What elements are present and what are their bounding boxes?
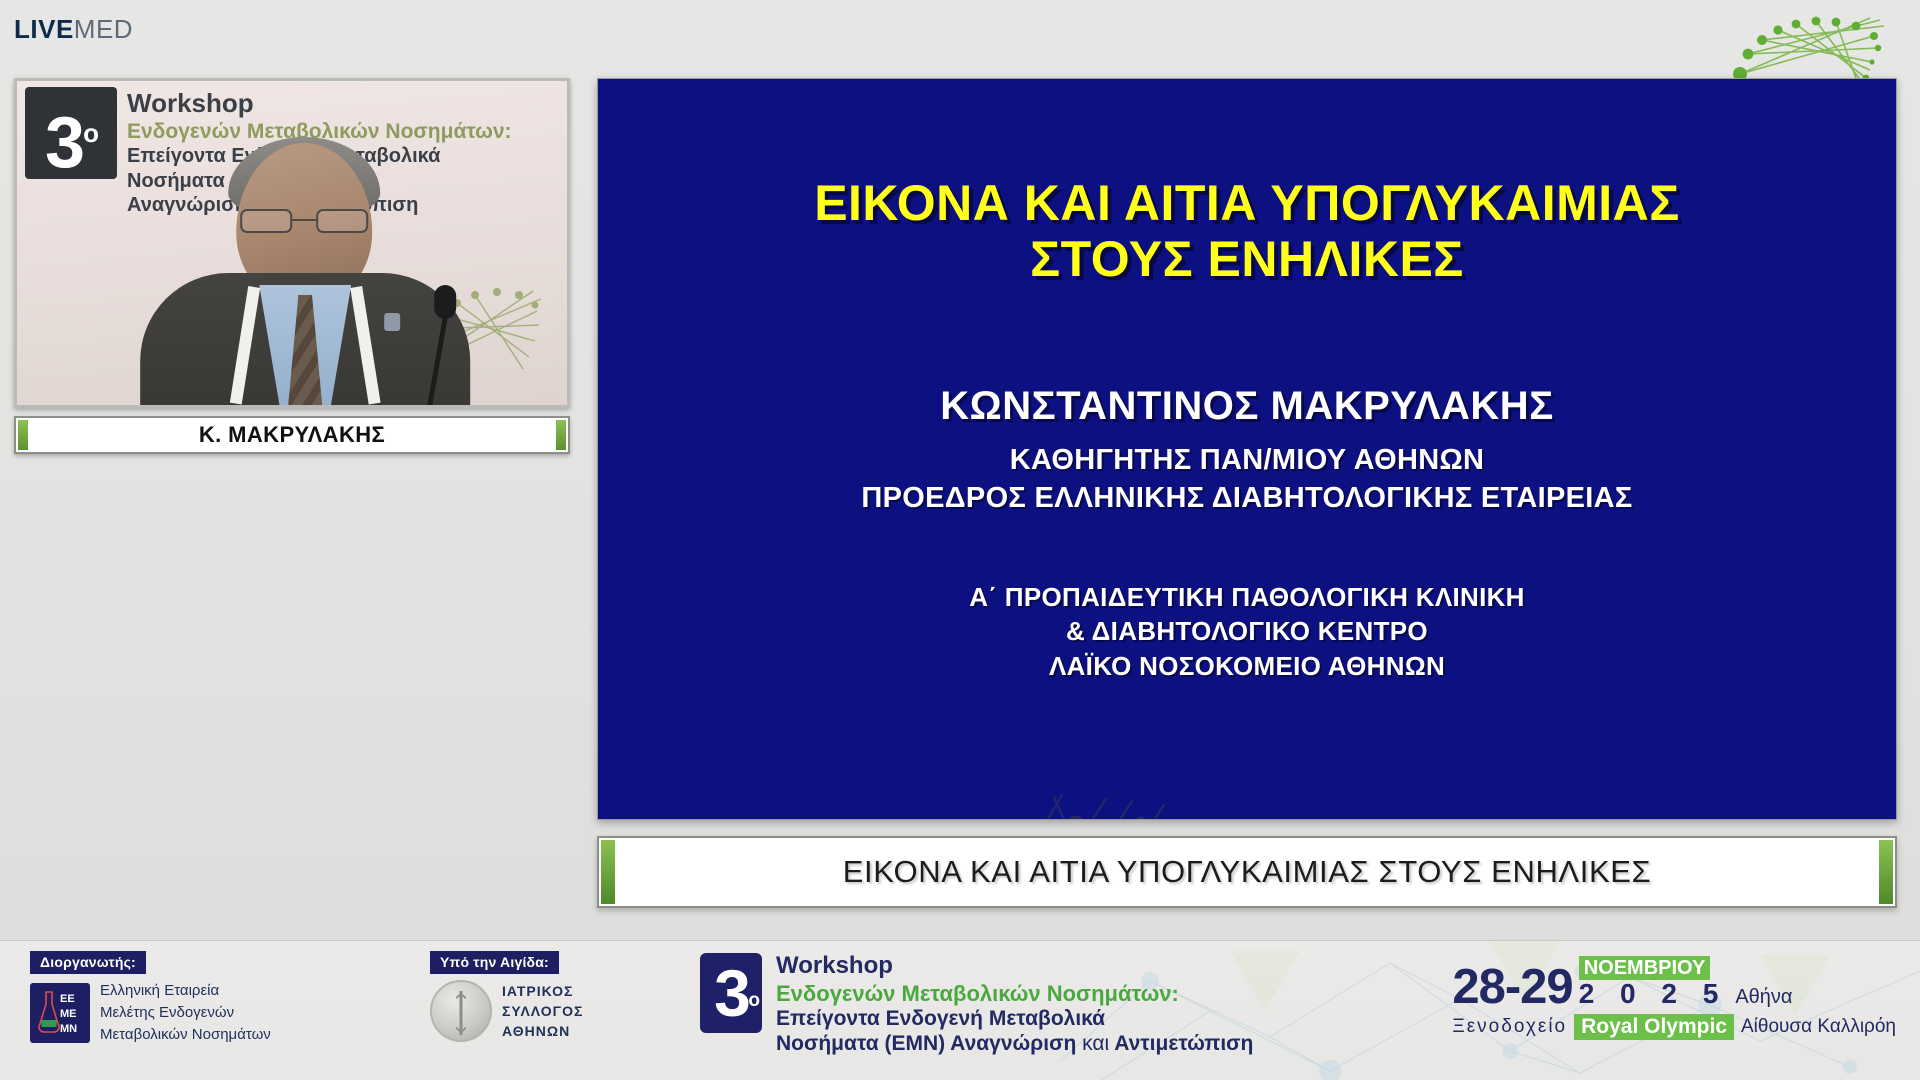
speaker-nameplate: Κ. ΜΑΚΡΥΛΑΚΗΣ	[14, 416, 570, 454]
eemn-logo-icon: ΕΕ ΜΕ ΜΝ	[30, 983, 90, 1043]
backdrop-badge-number: 3	[45, 103, 83, 183]
brand-med: MED	[74, 14, 133, 44]
backdrop-line2: Ενδογενών Μεταβολικών Νοσημάτων:	[127, 120, 547, 145]
workshop-line4-a: Νοσήματα (ΕΜΝ) Αναγνώριση	[776, 1032, 1082, 1055]
slide-affiliation-line1: Α΄ ΠΡΟΠΑΙΔΕΥΤΙΚΗ ΠΑΘΟΛΟΓΙΚΗ ΚΛΙΝΙΚΗ	[969, 580, 1525, 615]
eemn-letters-1: ΕΕ	[60, 994, 75, 1005]
speaker-video-feed[interactable]: 3ο Workshop Ενδογενών Μεταβολικών Νοσημά…	[14, 78, 570, 408]
speaker-name: Κ. ΜΑΚΡΥΛΑΚΗΣ	[199, 422, 385, 448]
workshop-number: 3	[714, 956, 748, 1030]
auspices-name: ΙΑΤΡΙΚΟΣ ΣΥΛΛΟΓΟΣ ΑΘΗΝΩΝ	[502, 981, 583, 1042]
organizer-name-line3: Μεταβολικών Νοσημάτων	[100, 1024, 271, 1046]
workshop-line4: Νοσήματα (ΕΜΝ) Αναγνώριση και Αντιμετώπι…	[776, 1032, 1253, 1057]
medical-association-seal-icon	[430, 980, 492, 1042]
event-venue-label: Ξενοδοχείο	[1452, 1016, 1567, 1038]
footer-workshop-branding: 3ο Workshop Ενδογενών Μεταβολικών Νοσημά…	[700, 953, 1253, 1056]
event-year: 2 0 2 5	[1579, 979, 1728, 1010]
livemed-logo[interactable]: LIVEMED	[14, 16, 133, 42]
speaker-lapel-pin	[384, 313, 400, 331]
auspices-name-line1: ΙΑΤΡΙΚΟΣ	[502, 981, 583, 1001]
footer-organizer: Διοργανωτής: ΕΕ ΜΕ ΜΝ Ελληνική Εταιρεία …	[30, 951, 330, 1045]
footer-auspices: Υπό την Αιγίδα: ΙΑΤΡΙΚΟΣ ΣΥΛΛΟΓΟΣ ΑΘΗΝΩΝ	[430, 951, 680, 1042]
backdrop-badge-ordinal: ο	[83, 118, 97, 148]
workshop-line4-b: και	[1082, 1032, 1109, 1055]
slide-presenter-name: ΚΩΝΣΤΑΝΤΙΝΟΣ ΜΑΚΡΥΛΑΚΗΣ	[940, 383, 1553, 429]
event-footer: Διοργανωτής: ΕΕ ΜΕ ΜΝ Ελληνική Εταιρεία …	[0, 940, 1920, 1080]
event-days: 28-29	[1452, 965, 1572, 1010]
organizer-name-line1: Ελληνική Εταιρεία	[100, 980, 271, 1002]
organizer-name: Ελληνική Εταιρεία Μελέτης Ενδογενών Μετα…	[100, 980, 271, 1045]
workshop-edition-badge: 3ο	[700, 953, 762, 1033]
slide-title: ΕΙΚΟΝΑ ΚΑΙ ΑΙΤΙΑ ΥΠΟΓΛΥΚΑΙΜΙΑΣ ΣΤΟΥΣ ΕΝΗ…	[814, 175, 1680, 287]
speaker-figure	[140, 143, 470, 405]
eemn-letters-2: ΜΕ	[60, 1009, 77, 1020]
auspices-name-line2: ΣΥΛΛΟΓΟΣ	[502, 1001, 583, 1021]
session-caption-bar: ΕΙΚΟΝΑ ΚΑΙ ΑΙΤΙΑ ΥΠΟΓΛΥΚΑΙΜΙΑΣ ΣΤΟΥΣ ΕΝΗ…	[597, 836, 1897, 908]
eemn-letters-3: ΜΝ	[60, 1024, 77, 1035]
auspices-tag: Υπό την Αιγίδα:	[430, 951, 559, 974]
organizer-name-line2: Μελέτης Ενδογενών	[100, 1002, 271, 1024]
session-caption-text: ΕΙΚΟΝΑ ΚΑΙ ΑΙΤΙΑ ΥΠΟΓΛΥΚΑΙΜΙΑΣ ΣΤΟΥΣ ΕΝΗ…	[843, 854, 1652, 890]
workshop-ordinal: ο	[748, 961, 757, 1041]
event-venue-name: Royal Olympic	[1574, 1014, 1734, 1040]
slide-title-line2: ΣΤΟΥΣ ΕΝΗΛΙΚΕΣ	[814, 231, 1680, 287]
presentation-slide[interactable]: ΕΙΚΟΝΑ ΚΑΙ ΑΙΤΙΑ ΥΠΟΓΛΥΚΑΙΜΙΑΣ ΣΤΟΥΣ ΕΝΗ…	[597, 78, 1897, 820]
speaker-glasses-icon	[240, 209, 368, 235]
organizer-tag: Διοργανωτής:	[30, 951, 146, 974]
brand-live: LIVE	[14, 14, 74, 44]
event-hall: Αίθουσα Καλλιρόη	[1741, 1016, 1896, 1038]
workshop-line1: Workshop	[776, 953, 1253, 980]
slide-presenter-role: ΚΑΘΗΓΗΤΗΣ ΠΑΝ/ΜΙΟΥ ΑΘΗΝΩΝ ΠΡΟΕΔΡΟΣ ΕΛΛΗΝ…	[861, 441, 1632, 518]
event-city: Αθήνα	[1735, 986, 1792, 1009]
slide-affiliation-line2: & ΔΙΑΒΗΤΟΛΟΓΙΚΟ ΚΕΝΤΡΟ	[969, 614, 1525, 649]
auspices-name-line3: ΑΘΗΝΩΝ	[502, 1021, 583, 1041]
speaker-panel: 3ο Workshop Ενδογενών Μεταβολικών Νοσημά…	[14, 78, 570, 454]
footer-event-details: 28-29 ΝΟΕΜΒΡΙΟΥ 2 0 2 5 Αθήνα Ξενοδοχείο…	[1452, 957, 1896, 1040]
workshop-line4-c: Αντιμετώπιση	[1109, 1032, 1253, 1055]
slide-role-line1: ΚΑΘΗΓΗΤΗΣ ΠΑΝ/ΜΙΟΥ ΑΘΗΝΩΝ	[861, 441, 1632, 479]
workshop-line3: Επείγοντα Ενδογενή Μεταβολικά	[776, 1007, 1253, 1032]
slide-affiliation-line3: ΛΑΪΚΟ ΝΟΣΟΚΟΜΕΙΟ ΑΘΗΝΩΝ	[969, 649, 1525, 684]
backdrop-line1: Workshop	[127, 89, 547, 118]
backdrop-edition-badge: 3ο	[25, 87, 117, 179]
slide-role-line2: ΠΡΟΕΔΡΟΣ ΕΛΛΗΝΙΚΗΣ ΔΙΑΒΗΤΟΛΟΓΙΚΗΣ ΕΤΑΙΡΕ…	[861, 479, 1632, 517]
slide-bottom-scribble	[1028, 783, 1228, 820]
microphone-icon	[406, 285, 464, 405]
slide-affiliation: Α΄ ΠΡΟΠΑΙΔΕΥΤΙΚΗ ΠΑΘΟΛΟΓΙΚΗ ΚΛΙΝΙΚΗ & ΔΙ…	[969, 580, 1525, 684]
workshop-line2: Ενδογενών Μεταβολικών Νοσημάτων:	[776, 981, 1253, 1007]
event-month: ΝΟΕΜΒΡΙΟΥ	[1579, 956, 1711, 980]
livestream-page: LIVEMED 3ο Workshop Ε	[0, 0, 1920, 1080]
slide-title-line1: ΕΙΚΟΝΑ ΚΑΙ ΑΙΤΙΑ ΥΠΟΓΛΥΚΑΙΜΙΑΣ	[814, 175, 1680, 231]
